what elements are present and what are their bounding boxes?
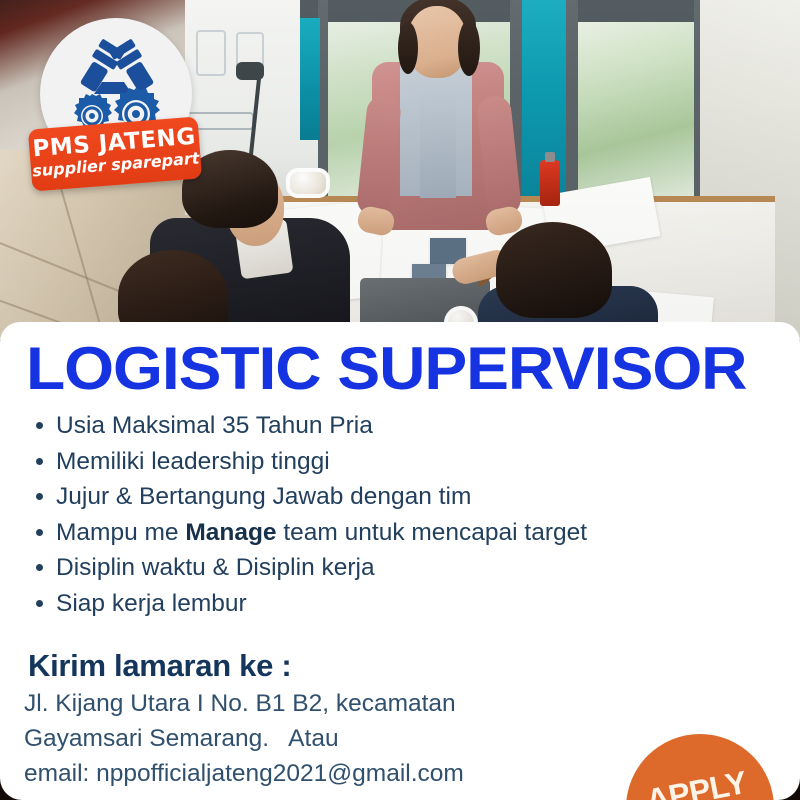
list-item: Siap kerja lembur [34,586,634,622]
brand-banner: PMS JATENG supplier sparepart [28,116,202,191]
requirements-list: Usia Maksimal 35 Tahun Pria Memiliki lea… [34,408,634,621]
address-line-2: Gayamsari Semarang. Atau [24,721,464,756]
list-item: Mampu me Manage team untuk mencapai targ… [34,515,634,551]
requirement-pre: Mampu me [56,519,185,546]
contact-heading: Kirim lamaran ke : [28,648,291,684]
brand-logo: PMS JATENG supplier sparepart [30,18,200,193]
requirement-post: team untuk mencapai target [277,519,588,546]
address-line-1: Jl. Kijang Utara I No. B1 B2, kecamatan [24,686,464,721]
contact-details: Jl. Kijang Utara I No. B1 B2, kecamatan … [24,686,464,791]
apply-now-badge[interactable]: APPLY NOW! [626,734,774,800]
email-line: email: nppofficialjateng2021@gmail.com [24,756,464,791]
list-item: Jujur & Bertangung Jawab dengan tim [34,479,634,515]
apply-line-1: APPLY [644,766,750,800]
content-card: LOGISTIC SUPERVISOR Usia Maksimal 35 Tah… [0,322,800,800]
requirement-emphasis: Manage [185,519,276,546]
list-item: Usia Maksimal 35 Tahun Pria [34,408,634,444]
list-item: Memiliki leadership tinggi [34,444,634,480]
job-poster: PMS JATENG supplier sparepart LOGISTIC S… [0,0,800,800]
page-title: LOGISTIC SUPERVISOR [26,334,746,403]
list-item: Disiplin waktu & Disiplin kerja [34,550,634,586]
apply-now-label: APPLY NOW! [644,766,756,800]
